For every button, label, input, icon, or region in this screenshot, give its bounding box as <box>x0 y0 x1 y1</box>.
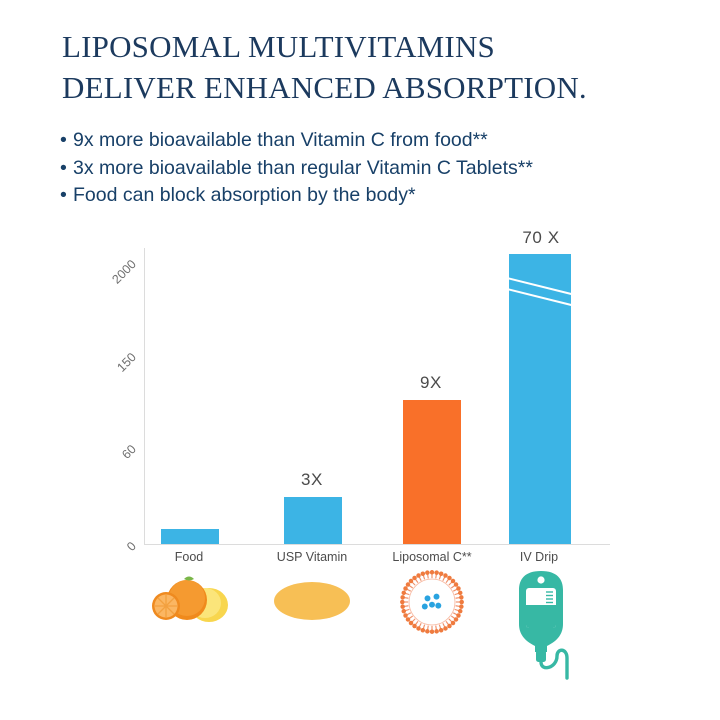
bar-value-label-iv-drip: 70 X <box>500 228 582 248</box>
bar-value-label-liposomal: 9X <box>392 373 470 393</box>
icon-cell-iv-drip <box>505 568 577 680</box>
icon-cell-usp-vitamin <box>272 578 352 624</box>
icon-cell-liposomal-c <box>392 566 472 638</box>
bar-liposomal-c[interactable] <box>403 400 461 544</box>
bar-value-label-usp: 3X <box>273 470 351 490</box>
oranges-and-lemon-icon <box>146 572 236 630</box>
bar-food[interactable] <box>161 529 219 544</box>
y-axis-tick-label: 0 <box>108 539 139 570</box>
icon-cell-food <box>146 572 236 630</box>
x-axis-label-iv-drip: IV Drip <box>500 550 578 564</box>
liposome-icon <box>392 566 472 638</box>
y-axis-tick-label: 60 <box>99 442 139 482</box>
x-axis-label-usp-vitamin: USP Vitamin <box>272 550 352 564</box>
plot-area <box>144 248 610 545</box>
x-axis-label-food: Food <box>150 550 228 564</box>
y-axis-tick-label: 2000 <box>92 257 139 304</box>
iv-drip-bag-icon <box>505 568 577 680</box>
bar-usp-vitamin[interactable] <box>284 497 342 544</box>
tablet-pill-icon <box>272 578 352 624</box>
bioavailability-bar-chart: 2000 150 60 0 3X 9X 70 X Food USP Vitami… <box>0 0 720 720</box>
bar-iv-drip[interactable] <box>509 254 571 544</box>
x-axis-label-liposomal-c: Liposomal C** <box>388 550 476 564</box>
y-axis-tick-label: 150 <box>95 350 139 394</box>
